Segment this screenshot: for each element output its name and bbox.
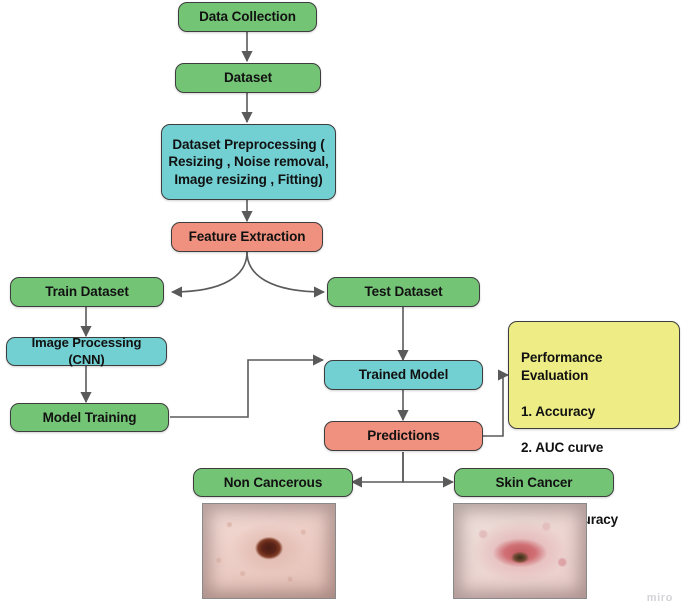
node-predictions[interactable]: Predictions	[324, 421, 483, 451]
image-vignette	[454, 504, 586, 598]
edge-predictions-to-non-cancerous	[352, 452, 403, 482]
node-trained-model[interactable]: Trained Model	[324, 360, 483, 390]
image-vignette	[203, 504, 335, 598]
flowchart-canvas: Data Collection Dataset Dataset Preproce…	[0, 0, 685, 610]
node-label: Feature Extraction	[189, 228, 306, 245]
node-label: Train Dataset	[45, 283, 128, 300]
node-data-collection[interactable]: Data Collection	[178, 2, 317, 32]
skin-cancer-lesion-image	[453, 503, 587, 599]
node-label: Dataset	[224, 69, 272, 86]
node-label: Non Cancerous	[224, 474, 322, 491]
performance-evaluation-item-2: 2. AUC curve	[521, 439, 667, 457]
node-label: Skin Cancer	[496, 474, 573, 491]
node-label: Model Training	[43, 409, 137, 426]
edge-feature-extraction-to-test	[247, 252, 324, 292]
node-feature-extraction[interactable]: Feature Extraction	[171, 222, 323, 252]
node-dataset[interactable]: Dataset	[175, 63, 321, 93]
skin-cancer-lesion-image-content	[454, 504, 586, 598]
node-label: Dataset Preprocessing ( Resizing , Noise…	[168, 136, 328, 188]
node-train-dataset[interactable]: Train Dataset	[10, 277, 164, 307]
edge-model-training-to-trained-model	[170, 360, 323, 417]
node-label: Image Processing (CNN)	[13, 335, 160, 368]
performance-evaluation-item-1: 1. Accuracy	[521, 403, 667, 421]
node-skin-cancer[interactable]: Skin Cancer	[454, 468, 614, 497]
node-label: Predictions	[367, 427, 439, 444]
benign-mole-image-content	[203, 504, 335, 598]
node-image-processing-cnn[interactable]: Image Processing (CNN)	[6, 337, 167, 366]
node-label: Trained Model	[359, 366, 448, 383]
node-model-training[interactable]: Model Training	[10, 403, 169, 432]
miro-watermark: miro	[647, 592, 673, 604]
node-label: Test Dataset	[364, 283, 442, 300]
benign-mole-image	[202, 503, 336, 599]
performance-evaluation-heading: Performance Evaluation	[521, 349, 667, 385]
node-non-cancerous[interactable]: Non Cancerous	[193, 468, 353, 497]
edge-predictions-to-skin-cancer	[403, 452, 453, 482]
node-test-dataset[interactable]: Test Dataset	[327, 277, 480, 307]
node-performance-evaluation[interactable]: Performance Evaluation 1. Accuracy 2. AU…	[508, 321, 680, 429]
edge-predictions-to-performance-evaluation	[483, 375, 508, 436]
edge-feature-extraction-to-train	[172, 252, 247, 292]
node-label: Data Collection	[199, 8, 296, 25]
node-dataset-preprocessing[interactable]: Dataset Preprocessing ( Resizing , Noise…	[161, 124, 336, 200]
